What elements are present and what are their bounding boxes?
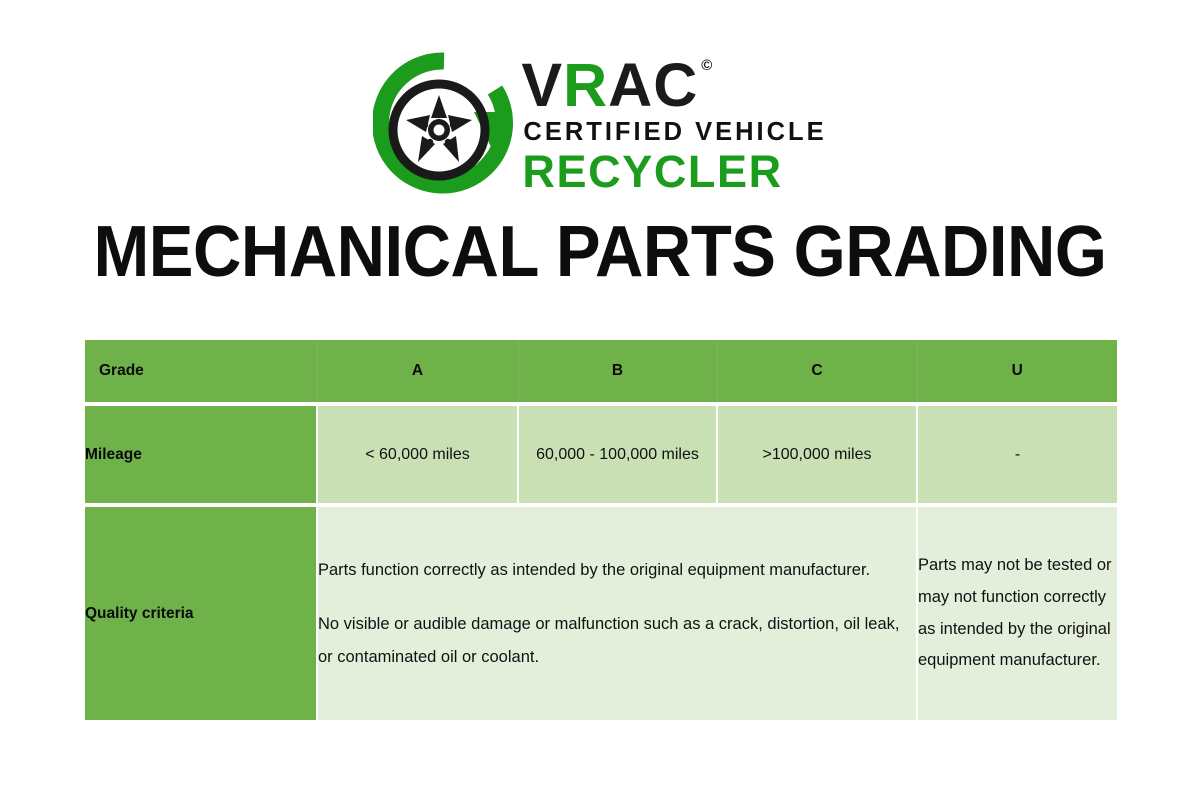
quality-criteria-abc: Parts function correctly as intended by … (317, 507, 917, 720)
table-header-row: Grade A B C U (85, 340, 1117, 402)
header-grade: Grade (85, 340, 317, 402)
row-label-mileage: Mileage (85, 406, 317, 503)
logo-brand-line: RECYCLER (522, 149, 782, 194)
quality-paragraph-1: Parts function correctly as intended by … (318, 554, 916, 586)
header-grade-c: C (717, 340, 917, 402)
grading-poster: VRAC© CERTIFIED VEHICLE RECYCLER MECHANI… (0, 0, 1200, 800)
logo-letters-ac: AC (608, 56, 698, 115)
page-title: MECHANICAL PARTS GRADING (42, 216, 1158, 288)
header-grade-a: A (317, 340, 518, 402)
logo-wordmark: VRAC© (521, 56, 713, 115)
quality-criteria-u: Parts may not be tested or may not funct… (917, 507, 1117, 720)
mileage-grade-a: < 60,000 miles (317, 406, 518, 503)
mileage-grade-u: - (917, 406, 1117, 503)
header-grade-b: B (518, 340, 717, 402)
vrac-logo: VRAC© CERTIFIED VEHICLE RECYCLER (0, 52, 1200, 194)
mileage-grade-b: 60,000 - 100,000 miles (518, 406, 717, 503)
table-row-mileage: Mileage < 60,000 miles 60,000 - 100,000 … (85, 406, 1117, 503)
table-row-quality-criteria: Quality criteria Parts function correctl… (85, 507, 1117, 720)
logo-letter-v: V (521, 56, 563, 115)
mechanical-parts-grading-table: Grade A B C U Mileage < 60,000 miles 60,… (85, 340, 1117, 720)
logo-letter-r: R (563, 56, 608, 115)
mileage-grade-c: >100,000 miles (717, 406, 917, 503)
copyright-icon: © (701, 58, 713, 73)
row-label-quality-criteria: Quality criteria (85, 507, 317, 720)
logo-tagline: CERTIFIED VEHICLE (523, 120, 826, 146)
header-grade-u: U (917, 340, 1117, 402)
wheel-recycle-icon (373, 52, 515, 194)
quality-paragraph-2: No visible or audible damage or malfunct… (318, 608, 916, 672)
